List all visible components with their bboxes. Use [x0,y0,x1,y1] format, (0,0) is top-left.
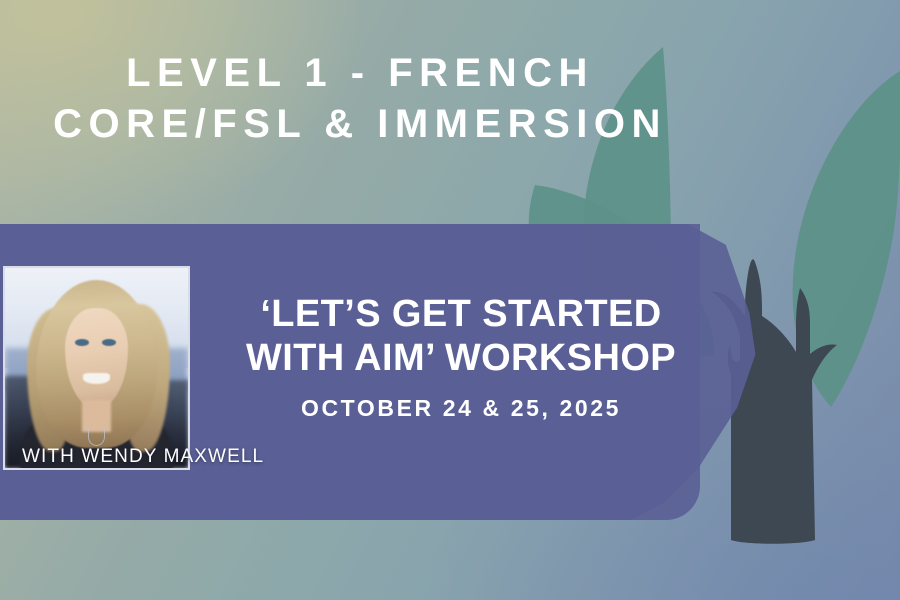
photo-eye-right [102,339,116,346]
photo-eye-left [75,339,89,346]
promotional-poster: LEVEL 1 - FRENCH CORE/FSL & IMMERSION WI… [0,0,900,600]
avatar [5,268,188,468]
portrait-photo [5,268,188,468]
photo-smile [83,373,110,384]
photo-necklace [88,428,105,446]
